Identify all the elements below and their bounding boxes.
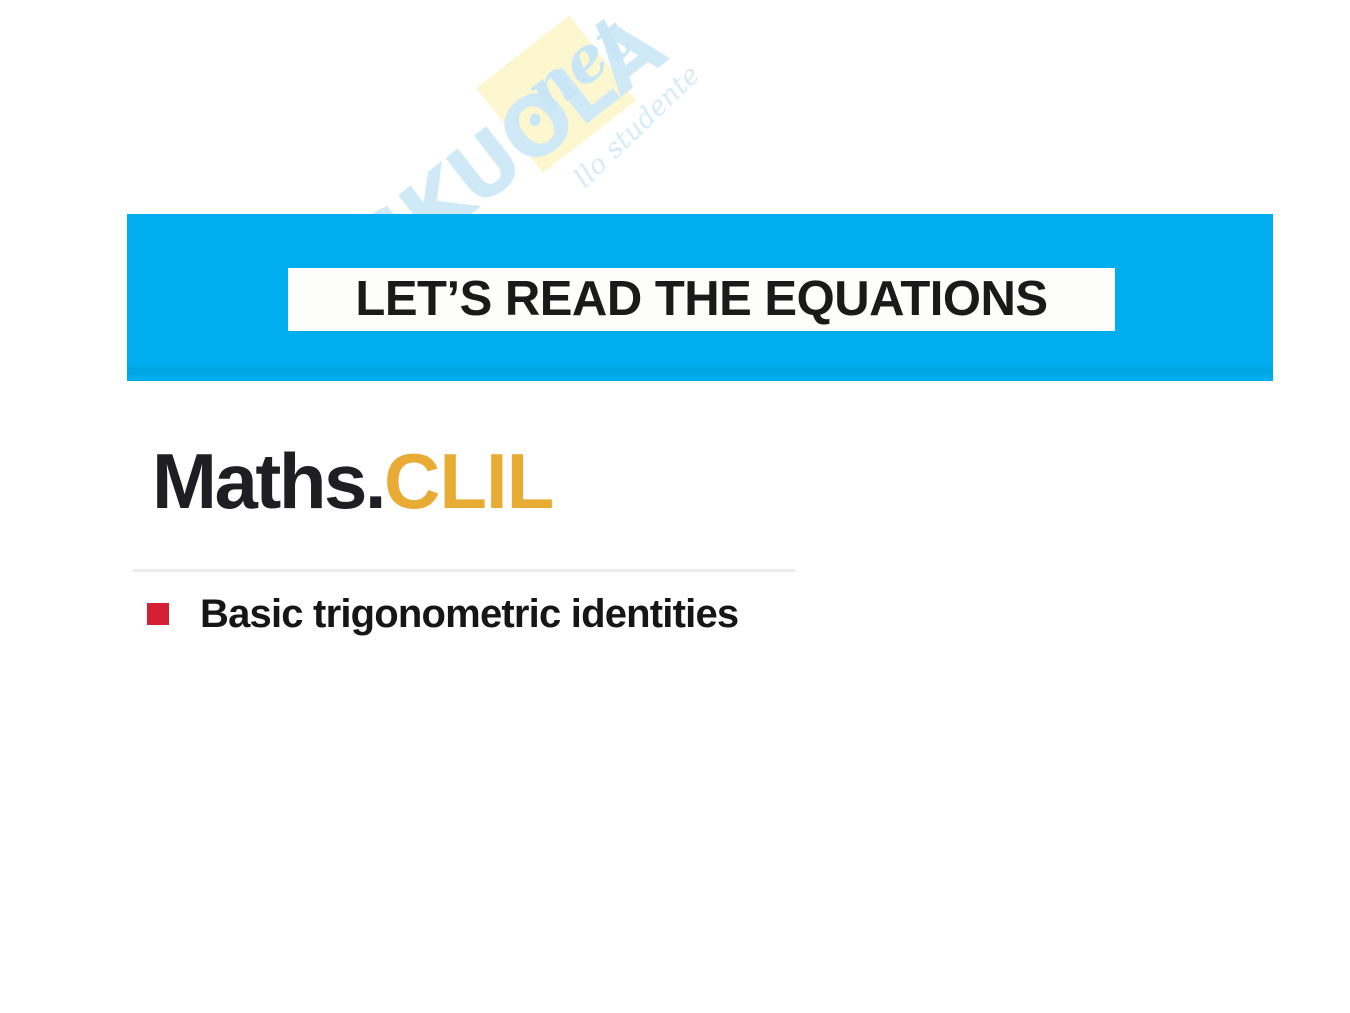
sticky-note-shape (476, 15, 635, 173)
logo-text-clil: CLIL (384, 437, 553, 525)
banner-bottom-strip (127, 367, 1273, 375)
logo-text-maths: Maths. (152, 437, 384, 525)
square-bullet-icon (147, 603, 169, 625)
title-banner: LET’S READ THE EQUATIONS (127, 214, 1273, 381)
slide-canvas: SKUOLA .net llo studente LET’S READ THE … (0, 0, 1350, 1013)
horizontal-divider (133, 569, 795, 572)
page-title: LET’S READ THE EQUATIONS (355, 275, 1047, 324)
list-item-label: Basic trigonometric identities (200, 594, 738, 634)
watermark-suffix-text: .net (498, 6, 642, 138)
title-text-box: LET’S READ THE EQUATIONS (288, 268, 1115, 331)
list-item: Basic trigonometric identities (147, 594, 738, 634)
maths-clil-logo: Maths.CLIL (152, 442, 553, 520)
watermark-tagline-text: llo studente (570, 61, 705, 193)
